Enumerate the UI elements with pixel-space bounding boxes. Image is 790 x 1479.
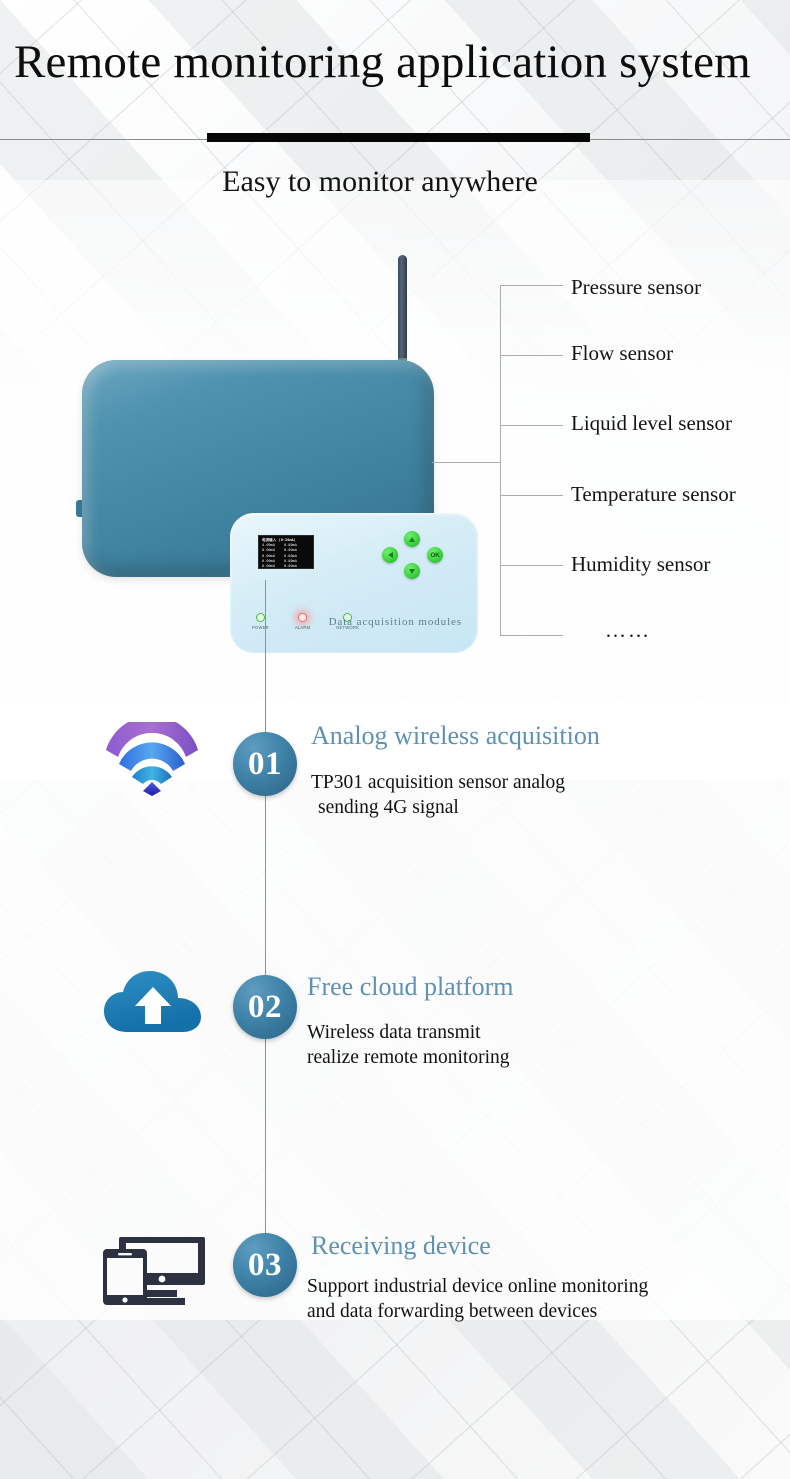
bracket-tick xyxy=(500,565,563,566)
step-number: 01 xyxy=(248,746,282,783)
led-alarm: ALARM xyxy=(295,613,310,630)
lcd-left-column: 4.00mA 0.00mA 0.00mA 0.00mA 0.00mA xyxy=(262,543,275,569)
lcd-cell: 0.00mA xyxy=(284,564,297,569)
step-body-03: Support industrial device online monitor… xyxy=(307,1274,648,1324)
triangle-down-icon xyxy=(409,569,415,574)
device-body: 电流输入 (0-20mA) 4.00mA 0.00mA 0.00mA 0.00m… xyxy=(82,360,434,577)
step-body-line: Wireless data transmit xyxy=(307,1020,510,1045)
sensor-label-liquid-level: Liquid level sensor xyxy=(571,411,732,436)
step-body-line: realize remote monitoring xyxy=(307,1045,510,1070)
wifi-icon xyxy=(103,722,201,796)
lcd-display: 电流输入 (0-20mA) 4.00mA 0.00mA 0.00mA 0.00m… xyxy=(258,535,314,569)
devices-icon xyxy=(103,1235,205,1307)
bracket-tick xyxy=(500,495,563,496)
keypad[interactable]: OK xyxy=(382,531,444,579)
step-body-line: TP301 acquisition sensor analog xyxy=(311,770,565,795)
step-number: 03 xyxy=(248,1247,282,1284)
wifi-icon-svg xyxy=(103,722,201,796)
lcd-title: 电流输入 (0-20mA) xyxy=(262,538,310,543)
step-heading-02: Free cloud platform xyxy=(307,972,514,1002)
bracket-tick xyxy=(500,285,563,286)
bracket-tick xyxy=(500,355,563,356)
arrow-left-button[interactable] xyxy=(382,547,398,563)
cloud-upload-icon xyxy=(103,970,203,1034)
step-badge-02: 02 xyxy=(233,975,297,1039)
timeline-spine-segment xyxy=(265,1038,267,1235)
lcd-cell: 0.00mA xyxy=(262,564,275,569)
bracket-tick xyxy=(500,425,563,426)
sensor-label-pressure: Pressure sensor xyxy=(571,275,701,300)
page-title: Remote monitoring application system xyxy=(14,32,751,92)
timeline-spine-segment xyxy=(265,795,267,977)
triangle-up-icon xyxy=(409,537,415,542)
ok-button[interactable]: OK xyxy=(427,547,443,563)
bracket-tick xyxy=(500,635,563,636)
sensor-label-temperature: Temperature sensor xyxy=(571,482,736,507)
step-body-02: Wireless data transmit realize remote mo… xyxy=(307,1020,510,1070)
ok-button-label: OK xyxy=(430,552,439,559)
step-body-line: sending 4G signal xyxy=(311,795,565,820)
led-label: ALARM xyxy=(295,625,310,630)
arrow-down-button[interactable] xyxy=(404,563,420,579)
step-badge-01: 01 xyxy=(233,732,297,796)
arrow-up-button[interactable] xyxy=(404,531,420,547)
timeline-spine-segment xyxy=(265,580,267,735)
device-brand-text: Data acquisition modules xyxy=(329,616,462,628)
step-number: 02 xyxy=(248,989,282,1026)
bracket-vertical-line xyxy=(500,285,501,635)
device-front-panel: 电流输入 (0-20mA) 4.00mA 0.00mA 0.00mA 0.00m… xyxy=(230,513,478,653)
triangle-left-icon xyxy=(388,552,393,558)
step-heading-03: Receiving device xyxy=(311,1231,491,1261)
step-body-line: and data forwarding between devices xyxy=(307,1299,648,1324)
cloud-upload-icon-svg xyxy=(103,970,203,1034)
antenna-icon xyxy=(398,255,407,362)
sensor-label-humidity: Humidity sensor xyxy=(571,552,710,577)
sensor-label-flow: Flow sensor xyxy=(571,341,673,366)
bracket-device-connector xyxy=(432,462,501,463)
led-power: POWER xyxy=(252,613,269,630)
header-divider-accent xyxy=(207,133,590,142)
lcd-right-column: 0.00mA 0.00mA 0.00mA 0.00mA 0.00mA xyxy=(284,543,297,569)
led-label: POWER xyxy=(252,625,269,630)
step-badge-03: 03 xyxy=(233,1233,297,1297)
devices-icon-svg xyxy=(103,1235,205,1307)
device-illustration: 电流输入 (0-20mA) 4.00mA 0.00mA 0.00mA 0.00m… xyxy=(0,250,520,650)
step-body-01: TP301 acquisition sensor analog sending … xyxy=(311,770,565,820)
page-subtitle: Easy to monitor anywhere xyxy=(0,165,790,199)
step-heading-01: Analog wireless acquisition xyxy=(311,721,600,751)
alarm-led-icon xyxy=(298,613,307,622)
step-body-line: Support industrial device online monitor… xyxy=(307,1274,648,1299)
sensor-label-ellipsis: …… xyxy=(605,618,651,643)
